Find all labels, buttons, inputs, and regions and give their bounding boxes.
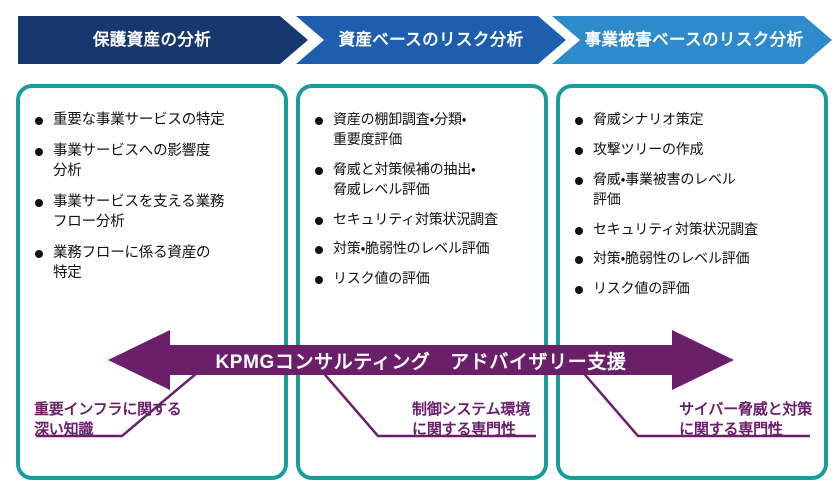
list-item: 事業サービスを支える業務 フロー分析 [34,192,274,233]
list-item: 対策・脆弱性のレベル評価 [574,249,814,269]
diagram-canvas: 保護資産の分析 資産ベースのリスク分析 事業被害ベースのリスク分析 重要な事業サ… [0,0,840,500]
column-panel-3: 脅威シナリオ策定 攻撃ツリーの作成 脅威・事業被害のレベル 評価 セキュリティ対… [556,84,828,480]
step-chevron-1[interactable]: 保護資産の分析 [18,16,308,64]
list-item: 脅威・事業被害のレベル 評価 [574,170,814,210]
step-label-1: 保護資産の分析 [93,32,211,49]
column-panel-2: 資産の棚卸調査・分類・ 重要度評価 脅威と対策候補の抽出・ 脅威レベル評価 セキ… [296,84,548,480]
bullet-list-2: 資産の棚卸調査・分類・ 重要度評価 脅威と対策候補の抽出・ 脅威レベル評価 セキ… [314,110,534,299]
list-item: 脅威シナリオ策定 [574,110,814,130]
list-item: 脅威と対策候補の抽出・ 脅威レベル評価 [314,160,534,200]
step-chevron-2[interactable]: 資産ベースのリスク分析 [296,16,566,64]
process-steps-row: 保護資産の分析 資産ベースのリスク分析 事業被害ベースのリスク分析 [0,16,840,64]
bullet-list-1: 重要な事業サービスの特定 事業サービスへの影響度 分析 事業サービスを支える業務… [34,110,274,294]
list-item: 資産の棚卸調査・分類・ 重要度評価 [314,110,534,150]
list-item: リスク値の評価 [314,269,534,289]
step-label-3: 事業被害ベースのリスク分析 [585,32,804,49]
list-item: 対策・脆弱性のレベル評価 [314,239,534,259]
expertise-label-1: 重要インフラに関する 深い知識 [34,400,182,441]
step-chevron-3[interactable]: 事業被害ベースのリスク分析 [552,16,832,64]
advisory-support-arrow: KPMGコンサルティング アドバイザリー支援 [108,328,734,392]
list-item: 重要な事業サービスの特定 [34,110,274,131]
bullet-list-3: 脅威シナリオ策定 攻撃ツリーの作成 脅威・事業被害のレベル 評価 セキュリティ対… [574,110,814,309]
double-arrow-icon [108,328,734,392]
list-item: 業務フローに係る資産の 特定 [34,243,274,284]
list-item: セキュリティ対策状況調査 [314,210,534,230]
expertise-label-2: 制御システム環境 に関する専門性 [412,400,530,441]
column-panel-1: 重要な事業サービスの特定 事業サービスへの影響度 分析 事業サービスを支える業務… [16,84,288,480]
list-item: 事業サービスへの影響度 分析 [34,141,274,182]
list-item: 攻撃ツリーの作成 [574,140,814,160]
list-item: リスク値の評価 [574,279,814,299]
step-label-2: 資産ベースのリスク分析 [338,32,523,49]
list-item: セキュリティ対策状況調査 [574,220,814,240]
expertise-label-3: サイバー脅威と対策 に関する専門性 [679,400,812,441]
